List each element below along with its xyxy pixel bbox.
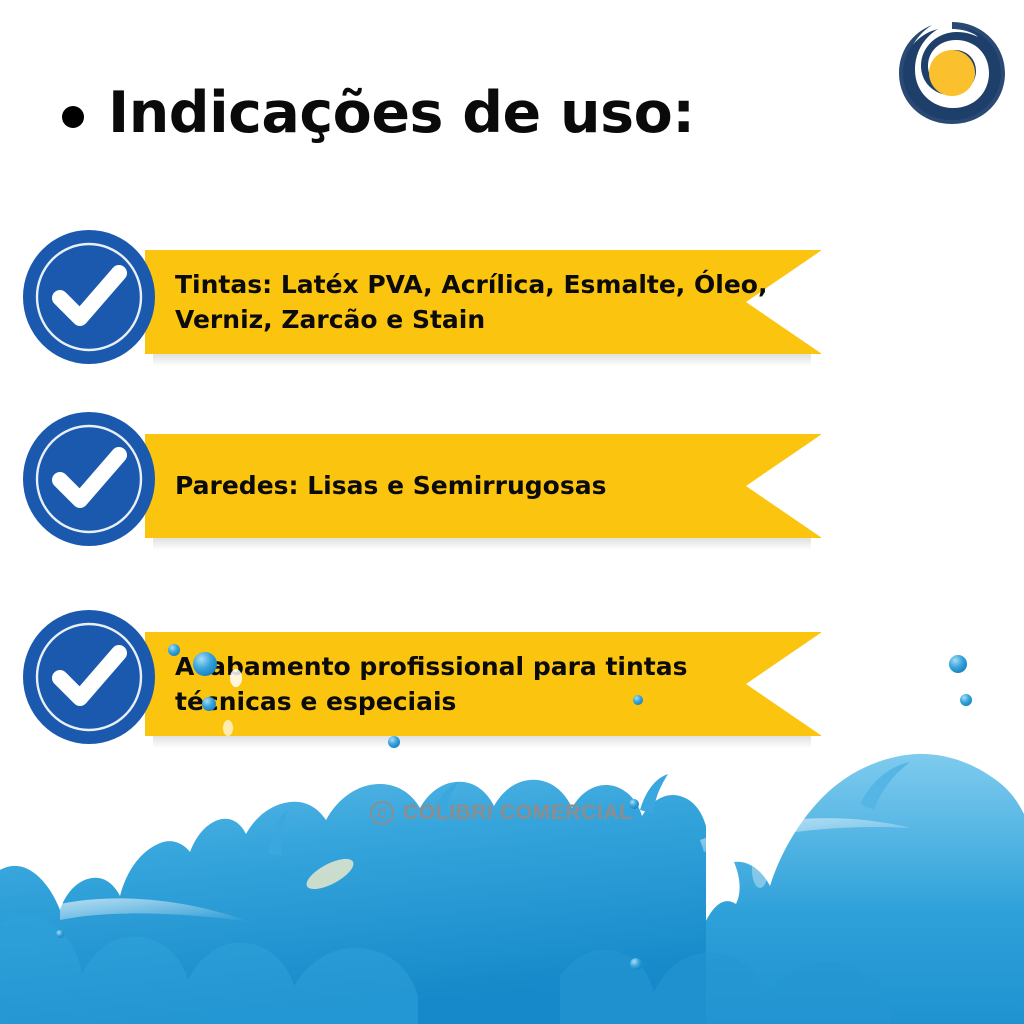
banner: Tintas: Latéx PVA, Acrílica, Esmalte, Ól… [145, 250, 821, 354]
banner: Paredes: Lisas e Semirrugosas [145, 434, 821, 538]
check-icon [22, 412, 156, 546]
watermark-text: COLIBRI COMERCIAL [403, 801, 633, 825]
banner: Acabamento profissional para tintas técn… [145, 632, 821, 736]
banner-label: Paredes: Lisas e Semirrugosas [145, 468, 646, 504]
banner-ribbon: Paredes: Lisas e Semirrugosas [145, 434, 821, 538]
banner-label: Tintas: Latéx PVA, Acrílica, Esmalte, Ól… [145, 267, 815, 338]
colibri-swirl-logo-icon [893, 18, 1011, 128]
copyright-icon: C [370, 801, 394, 825]
promo-graphic: Indicações de uso: Tintas: Latéx PVA, Ac… [0, 0, 1024, 1024]
page-title: Indicações de uso: [62, 84, 695, 144]
bullet-icon [62, 106, 84, 128]
check-icon [22, 610, 156, 744]
page-title-text: Indicações de uso: [108, 84, 695, 144]
banner-ribbon: Acabamento profissional para tintas técn… [145, 632, 821, 736]
banner-label: Acabamento profissional para tintas técn… [145, 649, 815, 720]
banner-ribbon: Tintas: Latéx PVA, Acrílica, Esmalte, Ól… [145, 250, 821, 354]
watermark: C COLIBRI COMERCIAL [370, 801, 633, 825]
check-icon [22, 230, 156, 364]
